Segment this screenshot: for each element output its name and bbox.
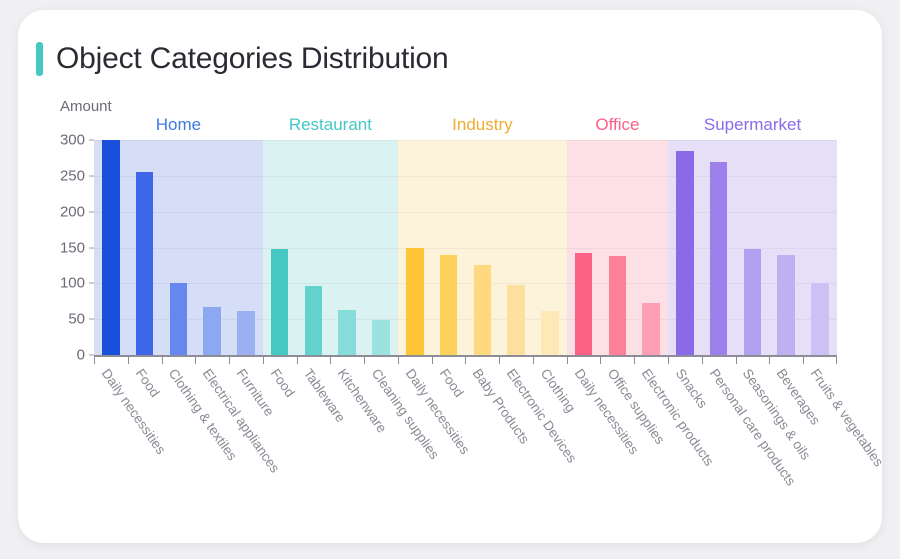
group-label-supermarket: Supermarket bbox=[668, 115, 837, 135]
y-tick-label: 50 bbox=[68, 311, 85, 328]
group-label-restaurant: Restaurant bbox=[263, 115, 398, 135]
x-tick-label: Food bbox=[132, 366, 162, 400]
bar[interactable] bbox=[609, 256, 627, 355]
bar-slot bbox=[195, 140, 229, 355]
group-label-industry: Industry bbox=[398, 115, 567, 135]
x-tick bbox=[600, 357, 634, 364]
y-tick-label: 200 bbox=[60, 203, 85, 220]
bar[interactable] bbox=[406, 248, 424, 356]
bar-slot bbox=[736, 140, 770, 355]
x-tick bbox=[634, 357, 668, 364]
bar-slot bbox=[533, 140, 567, 355]
x-axis-ticks bbox=[94, 357, 837, 364]
bar[interactable] bbox=[777, 255, 795, 355]
x-tick bbox=[128, 357, 162, 364]
x-tick bbox=[432, 357, 466, 364]
x-tick-label: Food bbox=[436, 366, 466, 400]
x-tick bbox=[769, 357, 803, 364]
x-tick bbox=[465, 357, 499, 364]
bar[interactable] bbox=[710, 162, 728, 356]
bar-slot bbox=[432, 140, 466, 355]
bar-slot bbox=[702, 140, 736, 355]
x-tick bbox=[330, 357, 364, 364]
bar[interactable] bbox=[136, 172, 154, 355]
bar[interactable] bbox=[237, 311, 255, 355]
x-tick bbox=[736, 357, 770, 364]
bar[interactable] bbox=[541, 311, 559, 355]
bar-slot bbox=[769, 140, 803, 355]
x-tick bbox=[229, 357, 263, 364]
bar-series bbox=[94, 140, 837, 355]
bar[interactable] bbox=[372, 320, 390, 355]
y-tick-label: 150 bbox=[60, 239, 85, 256]
x-tick-label: Food bbox=[267, 366, 297, 400]
x-tick bbox=[94, 357, 128, 364]
bar-slot bbox=[398, 140, 432, 355]
bar-slot bbox=[128, 140, 162, 355]
bar-slot bbox=[803, 140, 837, 355]
bar[interactable] bbox=[440, 255, 458, 355]
bar[interactable] bbox=[642, 303, 660, 355]
bar-slot bbox=[330, 140, 364, 355]
bar[interactable] bbox=[474, 265, 492, 355]
bar-slot bbox=[499, 140, 533, 355]
bar[interactable] bbox=[575, 253, 593, 355]
x-tick bbox=[364, 357, 398, 364]
chart-title-row: Object Categories Distribution bbox=[36, 42, 449, 76]
bar-slot bbox=[634, 140, 668, 355]
x-tick bbox=[803, 357, 837, 364]
y-tick-label: 0 bbox=[77, 347, 85, 364]
bar[interactable] bbox=[102, 140, 120, 355]
bar-slot bbox=[229, 140, 263, 355]
y-axis-title: Amount bbox=[60, 98, 112, 115]
bar[interactable] bbox=[676, 151, 694, 355]
bar-slot bbox=[263, 140, 297, 355]
plot-area: HomeRestaurantIndustryOfficeSupermarket … bbox=[94, 140, 837, 355]
bar-slot bbox=[668, 140, 702, 355]
bar[interactable] bbox=[744, 249, 762, 355]
x-tick bbox=[263, 357, 297, 364]
bar-slot bbox=[94, 140, 128, 355]
bar[interactable] bbox=[507, 285, 525, 355]
x-tick bbox=[162, 357, 196, 364]
bar[interactable] bbox=[203, 307, 221, 355]
bar-slot bbox=[297, 140, 331, 355]
x-tick bbox=[297, 357, 331, 364]
x-tick bbox=[702, 357, 736, 364]
group-label-home: Home bbox=[94, 115, 263, 135]
bar[interactable] bbox=[305, 286, 323, 355]
x-tick bbox=[567, 357, 601, 364]
chart-card: Object Categories Distribution Amount Ho… bbox=[18, 10, 882, 543]
bar[interactable] bbox=[338, 310, 356, 355]
y-tick-label: 100 bbox=[60, 275, 85, 292]
group-label-office: Office bbox=[567, 115, 668, 135]
x-tick-label: Daily necessities bbox=[99, 366, 169, 457]
x-tick bbox=[668, 357, 702, 364]
bar-slot bbox=[364, 140, 398, 355]
y-tick-label: 250 bbox=[60, 167, 85, 184]
bar-slot bbox=[567, 140, 601, 355]
y-tick-label: 300 bbox=[60, 132, 85, 149]
bar[interactable] bbox=[170, 283, 188, 355]
page-title: Object Categories Distribution bbox=[56, 42, 449, 76]
x-tick bbox=[499, 357, 533, 364]
x-tick bbox=[195, 357, 229, 364]
bar-slot bbox=[162, 140, 196, 355]
x-tick bbox=[533, 357, 567, 364]
x-tick bbox=[398, 357, 432, 364]
bar-slot bbox=[465, 140, 499, 355]
bar[interactable] bbox=[271, 249, 289, 355]
bar[interactable] bbox=[811, 283, 829, 355]
title-accent-bar bbox=[36, 42, 43, 76]
bar-slot bbox=[600, 140, 634, 355]
